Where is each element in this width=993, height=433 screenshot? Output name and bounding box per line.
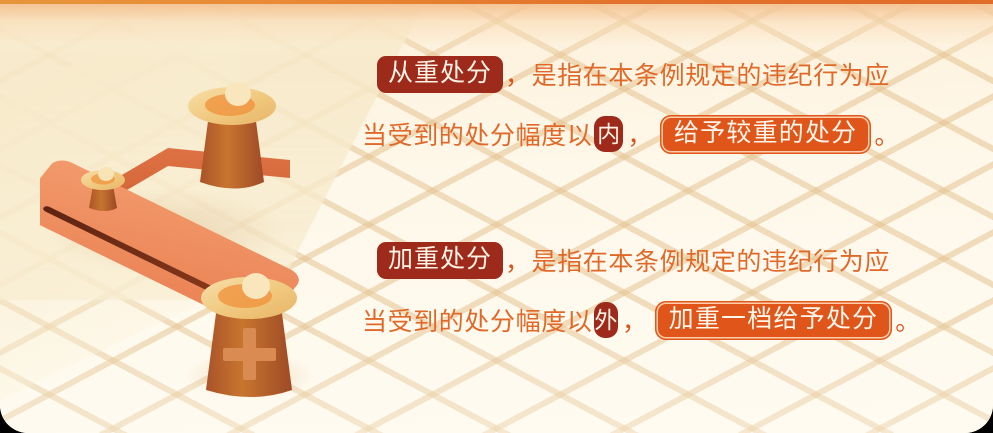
paragraph-2-line-2: 当受到的处分幅度以 外 ， 加重一档给予处分 。 (360, 296, 900, 344)
paragraph-1-body-line-2: 当受到的处分幅度以 (362, 116, 592, 152)
plus-weight (201, 273, 297, 397)
badge-nei: 内 (594, 116, 623, 152)
paragraph-2-line-1: 加重处分 ， 是指在本条例规定的违纪行为应 (360, 236, 900, 284)
comma-1: ， (505, 56, 531, 92)
infographic-card: 从重处分 ， 是指在本条例规定的违纪行为应 当受到的处分幅度以 内 ， 给予较重… (0, 0, 993, 433)
pill-jiazhong-yidang-jiyu-chufen: 加重一档给予处分 (655, 301, 893, 340)
text-column: 从重处分 ， 是指在本条例规定的违纪行为应 当受到的处分幅度以 内 ， 给予较重… (360, 0, 900, 433)
period-2: 。 (895, 302, 921, 338)
paragraph-1-line-2: 当受到的处分幅度以 内 ， 给予较重的处分 。 (360, 110, 900, 158)
tag-congzhong-chufen: 从重处分 (377, 56, 503, 93)
paragraph-2-body-line-2: 当受到的处分幅度以 (362, 302, 592, 338)
paragraph-1-line-1: 从重处分 ， 是指在本条例规定的违纪行为应 (360, 50, 900, 98)
comma-4: ， (622, 302, 648, 338)
comma-2: ， (627, 116, 653, 152)
illustration-balance-scale (40, 60, 340, 400)
plus-weight-handle (242, 273, 270, 299)
paragraph-congzhong-chufen: 从重处分 ， 是指在本条例规定的违纪行为应 当受到的处分幅度以 内 ， 给予较重… (360, 50, 900, 158)
paragraph-jiazhong-chufen: 加重处分 ， 是指在本条例规定的违纪行为应 当受到的处分幅度以 外 ， 加重一档… (360, 236, 900, 344)
comma-3: ， (505, 242, 531, 278)
paragraph-2-body-line-1: 是指在本条例规定的违纪行为应 (532, 242, 890, 278)
period-1: 。 (874, 116, 900, 152)
large-weight-handle (225, 82, 251, 106)
paragraph-1-body-line-1: 是指在本条例规定的违纪行为应 (532, 56, 890, 92)
tag-jiazhong-chufen: 加重处分 (377, 242, 503, 279)
badge-wai: 外 (594, 302, 618, 338)
pill-jiyu-jiaozhong-de-chufen: 给予较重的处分 (660, 115, 871, 154)
small-weight-handle (98, 167, 114, 181)
